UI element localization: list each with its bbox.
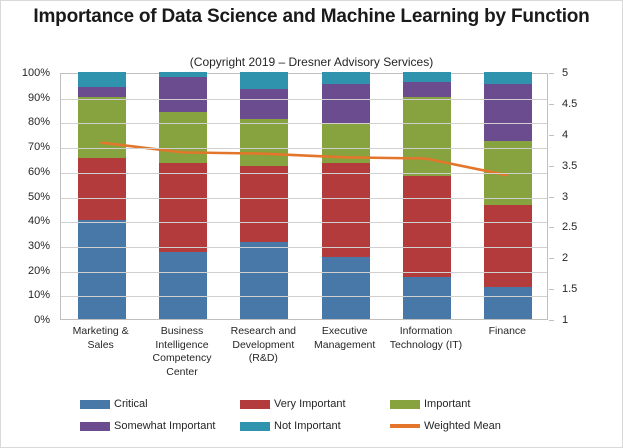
- legend-item[interactable]: Not Important: [240, 420, 341, 432]
- y2-axis-tick-mark: [549, 258, 554, 259]
- y2-axis-tick-mark: [549, 104, 554, 105]
- y-axis-tick-label: 100%: [22, 67, 50, 79]
- y2-axis-tick-label: 5: [562, 67, 568, 79]
- legend-swatch: [240, 422, 270, 431]
- y-axis-tick-label: 40%: [28, 215, 50, 227]
- y-axis-tick-label: 90%: [28, 92, 50, 104]
- y-axis-primary: 0%10%20%30%40%50%60%70%80%90%100%: [0, 66, 58, 328]
- y-axis-tick-label: 0%: [34, 314, 50, 326]
- y2-axis-tick-mark: [549, 166, 554, 167]
- y-axis-tick-label: 60%: [28, 166, 50, 178]
- x-axis-label: Executive Management: [304, 325, 385, 352]
- legend-item[interactable]: Somewhat Important: [80, 420, 216, 432]
- gridline: [61, 173, 547, 174]
- y2-axis-tick-mark: [549, 289, 554, 290]
- gridline: [61, 296, 547, 297]
- y2-axis-tick-label: 2.5: [562, 221, 577, 233]
- x-axis-label: Business Intelligence Competency Center: [141, 325, 222, 379]
- legend-label: Critical: [114, 398, 148, 410]
- legend-item[interactable]: Important: [390, 398, 470, 410]
- y2-axis-tick-label: 4: [562, 129, 568, 141]
- y-axis-secondary: 11.522.533.544.55: [549, 66, 623, 328]
- chart-legend: CriticalVery ImportantImportantSomewhat …: [60, 398, 590, 444]
- gridline: [61, 247, 547, 248]
- legend-swatch: [80, 400, 110, 409]
- gridline: [61, 99, 547, 100]
- chart-title: Importance of Data Science and Machine L…: [0, 4, 623, 29]
- gridline: [61, 148, 547, 149]
- legend-item[interactable]: Weighted Mean: [390, 420, 501, 432]
- y2-axis-tick-label: 1: [562, 314, 568, 326]
- y-axis-tick-label: 30%: [28, 240, 50, 252]
- x-axis-label: Information Technology (IT): [385, 325, 466, 352]
- gridline: [61, 272, 547, 273]
- x-axis-label: Finance: [467, 325, 548, 339]
- legend-swatch: [240, 400, 270, 409]
- gridline: [61, 123, 547, 124]
- y2-axis-tick-label: 2: [562, 252, 568, 264]
- y2-axis-tick-mark: [549, 227, 554, 228]
- y2-axis-tick-label: 4.5: [562, 98, 577, 110]
- x-axis-label: Research and Development (R&D): [223, 325, 304, 366]
- legend-label: Not Important: [274, 420, 341, 432]
- legend-item[interactable]: Very Important: [240, 398, 346, 410]
- y-axis-tick-label: 80%: [28, 116, 50, 128]
- y-axis-tick-label: 50%: [28, 191, 50, 203]
- legend-item[interactable]: Critical: [80, 398, 148, 410]
- chart-subtitle: (Copyright 2019 – Dresner Advisory Servi…: [0, 55, 623, 69]
- gridline: [61, 198, 547, 199]
- y-axis-tick-label: 10%: [28, 289, 50, 301]
- gridline: [61, 222, 547, 223]
- y2-axis-tick-mark: [549, 320, 554, 321]
- legend-swatch: [390, 424, 420, 428]
- plot-area: [60, 73, 548, 320]
- weighted-mean-line: [61, 74, 547, 319]
- legend-label: Weighted Mean: [424, 420, 501, 432]
- x-axis-labels: Marketing & SalesBusiness Intelligence C…: [60, 325, 548, 395]
- x-axis-label: Marketing & Sales: [60, 325, 141, 352]
- y-axis-tick-label: 70%: [28, 141, 50, 153]
- y2-axis-tick-mark: [549, 135, 554, 136]
- legend-label: Important: [424, 398, 470, 410]
- y2-axis-tick-label: 3: [562, 191, 568, 203]
- y2-axis-tick-mark: [549, 73, 554, 74]
- legend-swatch: [80, 422, 110, 431]
- legend-label: Very Important: [274, 398, 346, 410]
- legend-swatch: [390, 400, 420, 409]
- y2-axis-tick-label: 1.5: [562, 283, 577, 295]
- y-axis-tick-label: 20%: [28, 265, 50, 277]
- legend-label: Somewhat Important: [114, 420, 216, 432]
- y2-axis-tick-mark: [549, 197, 554, 198]
- y2-axis-tick-label: 3.5: [562, 160, 577, 172]
